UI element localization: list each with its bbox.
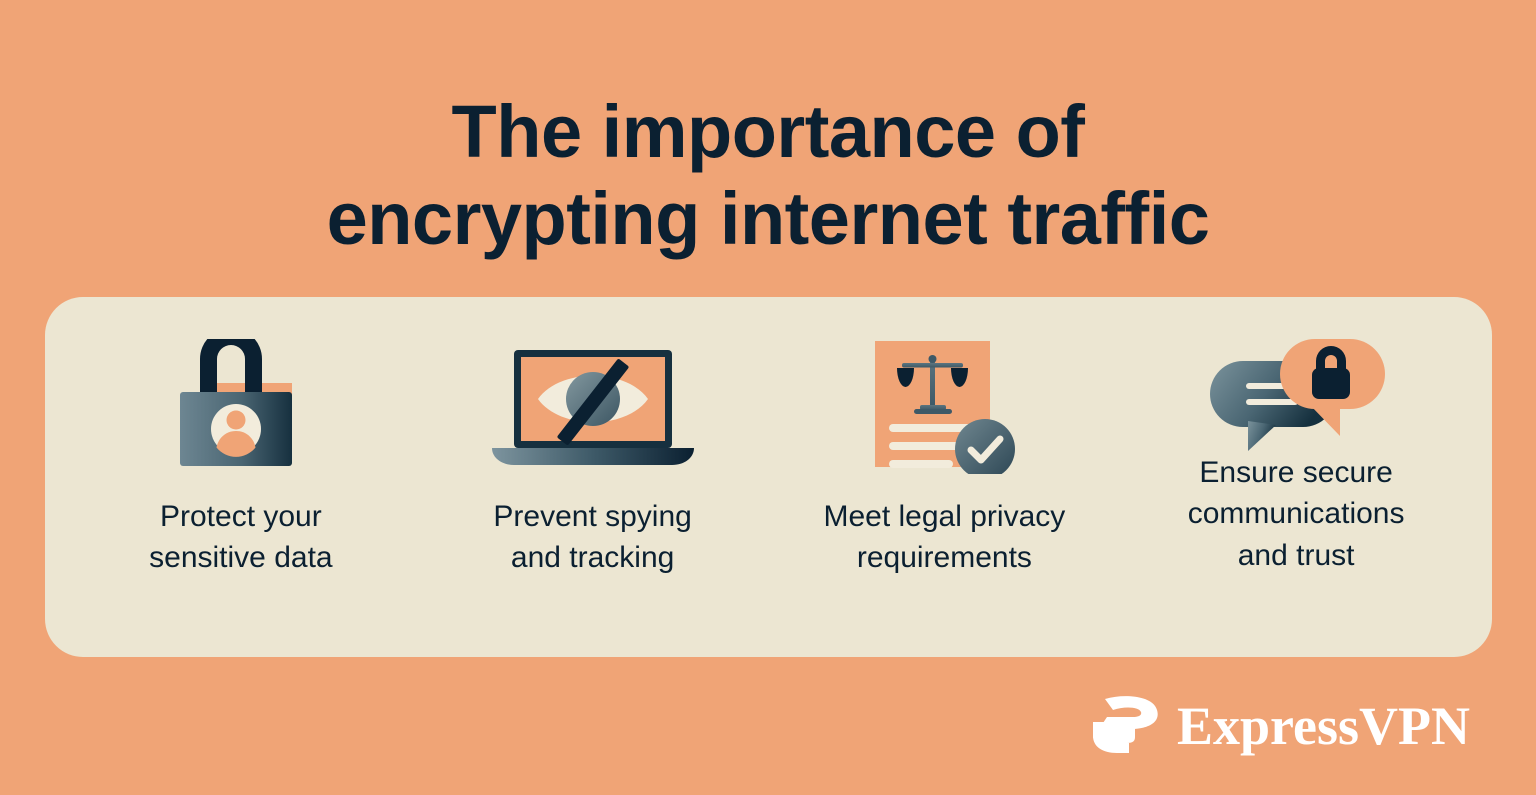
list-item-label: Prevent spying and tracking: [493, 496, 691, 579]
list-item: Protect your sensitive data: [86, 339, 396, 579]
benefits-card: Protect your sensitive data: [45, 297, 1492, 657]
expressvpn-wordmark: ExpressVPN: [1177, 699, 1470, 753]
infographic-canvas: The importance of encrypting internet tr…: [0, 0, 1536, 795]
list-item: Meet legal privacy requirements: [789, 339, 1099, 579]
list-item-label: Meet legal privacy requirements: [823, 496, 1065, 579]
laptop-eye-slash-icon: [438, 339, 748, 474]
list-item: Ensure secure communications and trust: [1141, 339, 1451, 576]
padlock-user-icon: [86, 339, 396, 474]
page-title: The importance of encrypting internet tr…: [0, 88, 1536, 263]
benefits-list: Protect your sensitive data: [45, 297, 1492, 657]
legal-document-check-icon: [789, 339, 1099, 474]
title-line-2: encrypting internet traffic: [0, 175, 1536, 262]
expressvpn-e-mark-icon: [1087, 695, 1161, 757]
expressvpn-logo: ExpressVPN: [1087, 695, 1470, 757]
list-item-label: Ensure secure communications and trust: [1188, 452, 1405, 576]
list-item-label: Protect your sensitive data: [149, 496, 332, 579]
list-item: Prevent spying and tracking: [438, 339, 748, 579]
title-line-1: The importance of: [0, 88, 1536, 175]
secure-chat-bubbles-lock-icon: [1141, 339, 1451, 452]
